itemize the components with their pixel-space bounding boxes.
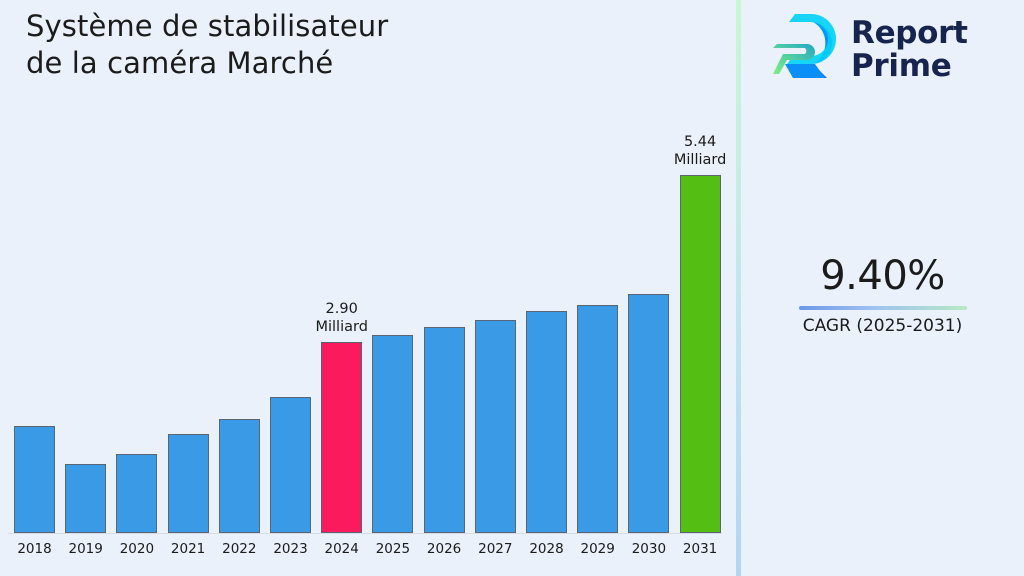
cagr-value: 9.40% [741,252,1024,300]
brand-panel: Report Prime 9.40% CAGR (2025-2031) [741,0,1024,576]
bar-rect-2022[interactable] [219,419,260,534]
cagr-divider [799,306,967,310]
bar-2021[interactable] [168,0,209,533]
x-axis-line [8,533,722,534]
bar-rect-2028[interactable] [526,311,567,533]
bar-value-label-2024: 2.90Milliard [315,300,367,336]
bar-2024[interactable]: 2.90Milliard [321,0,362,533]
x-axis-label-2024: 2024 [321,541,362,557]
x-axis-label-2021: 2021 [168,541,209,557]
cagr-block: 9.40% CAGR (2025-2031) [741,252,1024,337]
bar-2020[interactable] [116,0,157,533]
bar-value-label-2031: 5.44Milliard [674,133,726,169]
bar-2030[interactable] [628,0,669,533]
bar-value-number-2031: 5.44 [684,134,716,150]
brand-name-line1: Report [851,17,968,50]
bar-rect-2026[interactable] [424,327,465,533]
bar-rect-2027[interactable] [475,320,516,533]
x-axis-label-2026: 2026 [424,541,465,557]
bar-2028[interactable] [526,0,567,533]
bar-rect-2025[interactable] [372,335,413,533]
bar-rect-2029[interactable] [577,305,618,533]
bar-2026[interactable] [424,0,465,533]
x-axis-label-2029: 2029 [577,541,618,557]
bar-rect-2024[interactable] [321,342,362,533]
bar-2023[interactable] [270,0,311,533]
brand-name-line2: Prime [851,50,968,83]
bar-2031[interactable]: 5.44Milliard [680,0,721,533]
x-axis-label-2031: 2031 [680,541,721,557]
bar-value-unit-2024: Milliard [315,318,367,336]
x-axis-label-2020: 2020 [116,541,157,557]
chart-panel: Système de stabilisateur de la caméra Ma… [0,0,738,576]
x-axis-label-2019: 2019 [65,541,106,557]
x-axis-label-2022: 2022 [219,541,260,557]
bar-rect-2031[interactable] [680,175,721,533]
x-axis-label-2023: 2023 [270,541,311,557]
bar-chart: 2018201920202021202220232.90Milliard2024… [0,0,738,576]
bar-rect-2023[interactable] [270,397,311,533]
bar-2019[interactable] [65,0,106,533]
bar-2025[interactable] [372,0,413,533]
x-axis-label-2028: 2028 [526,541,567,557]
x-axis-label-2025: 2025 [372,541,413,557]
bar-value-unit-2031: Milliard [674,151,726,169]
brand-name: Report Prime [851,17,968,83]
report-prime-logo-icon [771,14,837,86]
infographic-root: Système de stabilisateur de la caméra Ma… [0,0,1024,576]
cagr-caption: CAGR (2025-2031) [741,315,1024,337]
x-axis-label-2030: 2030 [628,541,669,557]
brand-logo: Report Prime [771,14,968,86]
bar-2022[interactable] [219,0,260,533]
bar-rect-2019[interactable] [65,464,106,533]
bar-rect-2018[interactable] [14,426,55,533]
bar-rect-2030[interactable] [628,294,669,533]
bar-value-number-2024: 2.90 [326,301,358,317]
bar-2018[interactable] [14,0,55,533]
x-axis-label-2018: 2018 [14,541,55,557]
bar-2027[interactable] [475,0,516,533]
bar-2029[interactable] [577,0,618,533]
x-axis-label-2027: 2027 [475,541,516,557]
bar-rect-2021[interactable] [168,434,209,533]
bar-rect-2020[interactable] [116,454,157,533]
